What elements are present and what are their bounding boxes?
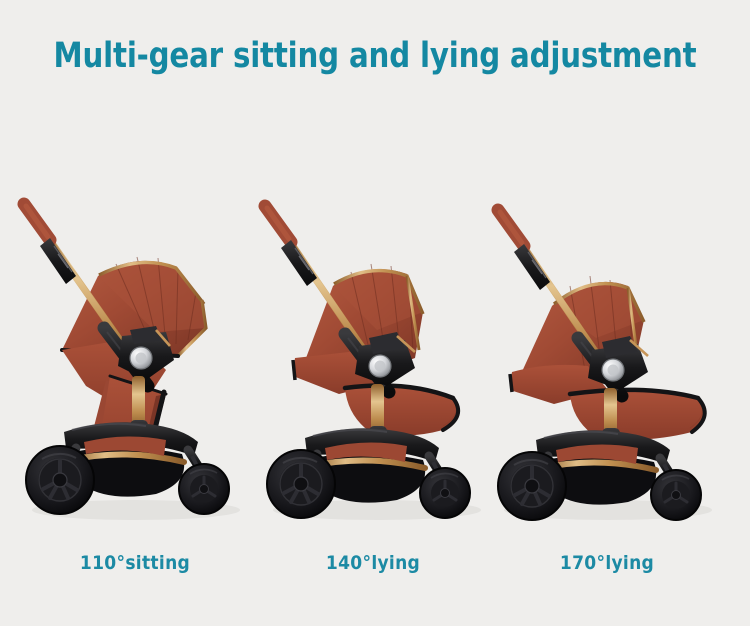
stroller-illustration	[247, 180, 497, 540]
stroller-illustration	[478, 180, 728, 540]
page-title: Multi-gear sitting and lying adjustment	[26, 36, 724, 76]
front-wheel	[179, 464, 229, 514]
handle-adjust-clamp	[514, 244, 550, 290]
front-wheel	[651, 470, 701, 520]
handle-adjust-clamp	[40, 238, 76, 284]
caption-140-lying: 140°lying	[248, 552, 498, 574]
caption-170-lying: 170°lying	[482, 552, 732, 574]
footrest	[345, 386, 458, 436]
handle-adjust-clamp	[281, 240, 317, 286]
rear-wheel	[267, 450, 335, 518]
product-figure-140-lying[interactable]	[247, 180, 497, 540]
product-gallery	[0, 180, 750, 540]
promo-banner: Multi-gear sitting and lying adjustment	[0, 0, 750, 626]
stroller-illustration	[6, 180, 256, 540]
front-wheel	[420, 468, 470, 518]
rear-wheel	[498, 452, 566, 520]
rear-wheel	[26, 446, 94, 514]
caption-110-sitting: 110°sitting	[10, 552, 260, 574]
product-figure-110-sitting[interactable]	[6, 180, 256, 540]
product-figure-170-lying[interactable]	[478, 180, 728, 540]
